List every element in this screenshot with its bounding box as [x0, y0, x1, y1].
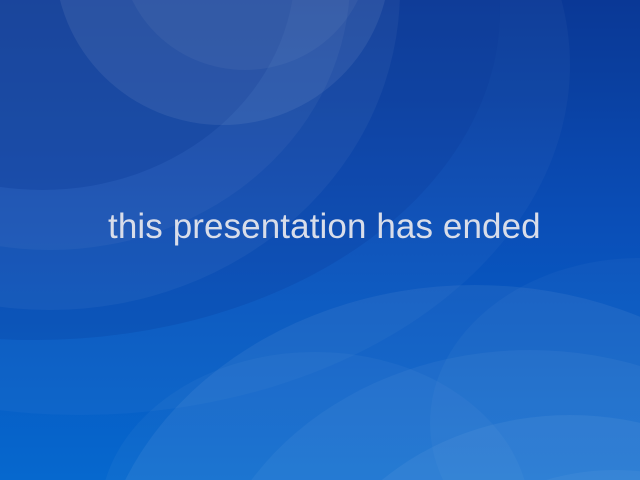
bottom-right-third-ring: [300, 415, 640, 480]
bottom-left-blob: [100, 352, 530, 480]
top-left-outer-ring: [0, 0, 400, 310]
bottom-right-outer-ring: [95, 285, 640, 480]
slide-body-text: this presentation has ended: [108, 206, 541, 248]
top-center-blob-highlight: [120, 0, 370, 70]
top-left-inner-ring-cut: [0, 0, 295, 190]
bottom-right-glow: [430, 258, 640, 480]
presentation-slide: this presentation has ended: [0, 0, 640, 480]
top-center-blob: [55, 0, 390, 125]
bottom-right-inner-ring: [405, 470, 640, 480]
top-left-sweep-inner-cut: [0, 0, 500, 340]
bottom-right-second-ring: [200, 350, 640, 480]
